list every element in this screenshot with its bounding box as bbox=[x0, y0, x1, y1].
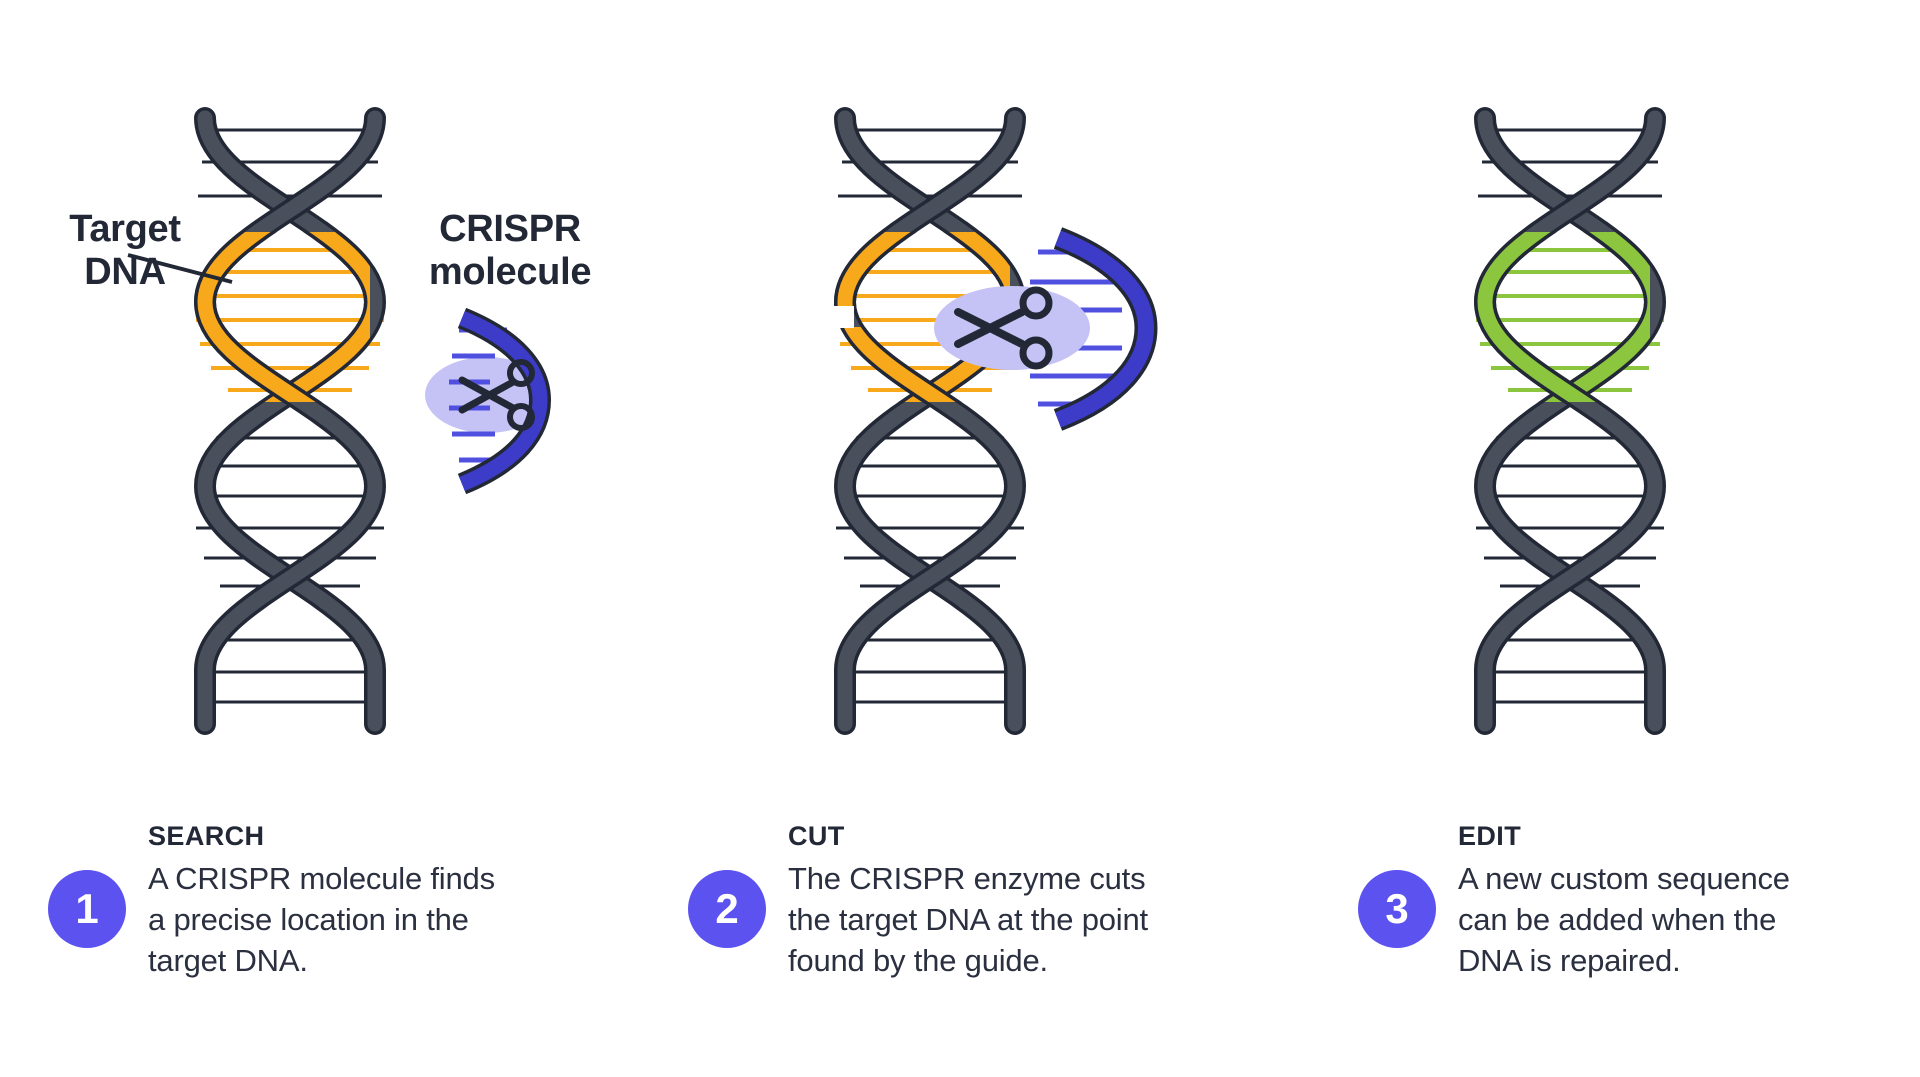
caption-text-cut: CUT The CRISPR enzyme cuts the target DN… bbox=[788, 822, 1148, 981]
caption-row: 1 SEARCH A CRISPR molecule finds a preci… bbox=[0, 800, 1920, 1077]
dna-helix-cut bbox=[640, 0, 1280, 800]
caption-text-search: SEARCH A CRISPR molecule finds a precise… bbox=[148, 822, 495, 981]
dna-helix-edit bbox=[1280, 0, 1920, 800]
caption-text-edit: EDIT A new custom sequence can be added … bbox=[1458, 822, 1790, 981]
step-badge-2: 2 bbox=[688, 870, 766, 948]
caption-body-search: A CRISPR molecule finds a precise locati… bbox=[148, 858, 495, 982]
step-badge-1: 1 bbox=[48, 870, 126, 948]
caption-body-cut: The CRISPR enzyme cuts the target DNA at… bbox=[788, 858, 1148, 982]
dna-helix-search bbox=[0, 0, 640, 800]
illustration-row: Target DNA CRISPR molecule bbox=[0, 0, 1920, 800]
step-badge-3: 3 bbox=[1358, 870, 1436, 948]
dna-cut-gap bbox=[808, 306, 854, 328]
callout-crispr-molecule: CRISPR molecule bbox=[400, 208, 620, 295]
callout-target-dna: Target DNA bbox=[30, 208, 220, 295]
caption-title-cut: CUT bbox=[788, 822, 1148, 852]
caption-title-edit: EDIT bbox=[1458, 822, 1790, 852]
crispr-molecule-search bbox=[425, 318, 549, 484]
caption-block-edit: 3 EDIT A new custom sequence can be adde… bbox=[1358, 822, 1920, 981]
enzyme-halo bbox=[934, 286, 1090, 370]
panel-art-search: Target DNA CRISPR molecule bbox=[0, 0, 640, 800]
panel-art-cut bbox=[640, 0, 1280, 800]
caption-block-search: 1 SEARCH A CRISPR molecule finds a preci… bbox=[48, 822, 648, 981]
panel-art-edit bbox=[1280, 0, 1920, 800]
caption-body-edit: A new custom sequence can be added when … bbox=[1458, 858, 1790, 982]
caption-block-cut: 2 CUT The CRISPR enzyme cuts the target … bbox=[688, 822, 1288, 981]
crispr-molecule-cut bbox=[934, 238, 1146, 420]
caption-title-search: SEARCH bbox=[148, 822, 495, 852]
infographic-stage: Target DNA CRISPR molecule bbox=[0, 0, 1920, 1077]
